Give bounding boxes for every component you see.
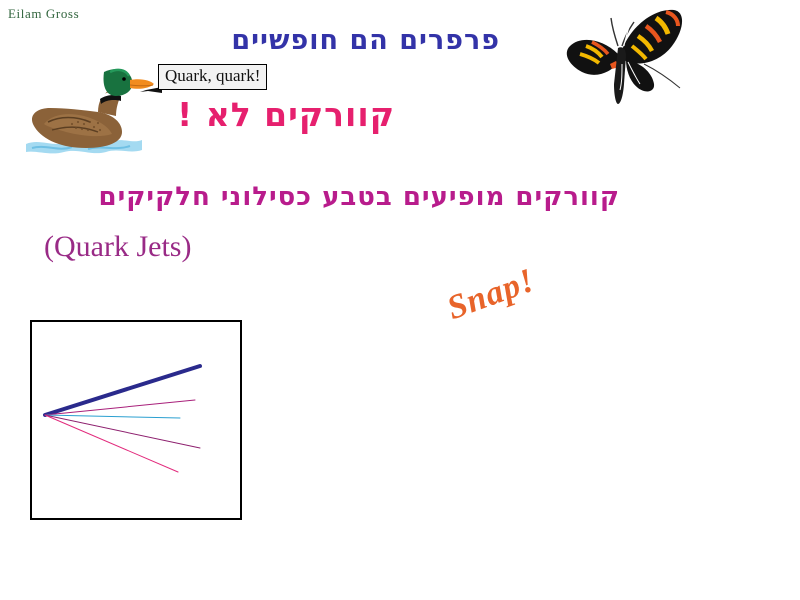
duck-illustration — [18, 52, 158, 162]
hadronization-sequence-diagram — [318, 322, 790, 538]
track-purple — [45, 415, 200, 448]
subtitle-quark-jets: (Quark Jets) — [44, 230, 191, 264]
track-pink — [45, 415, 178, 472]
heading-butterflies-are-free: פרפרים הם חופשיים — [231, 25, 500, 56]
jet-tracks-diagram — [30, 320, 242, 520]
heading-quarks-are-not: קוורקים לא ! — [177, 95, 395, 134]
speech-bubble-quark: Quark, quark! — [158, 64, 267, 90]
heading-quarks-appear-as-jets: קוורקים מופיעים בטבע כסילוני חלקיקים — [99, 182, 620, 212]
track-cyan — [45, 415, 180, 418]
author-name: Eilam Gross — [8, 6, 79, 22]
butterfly-illustration — [556, 2, 692, 108]
